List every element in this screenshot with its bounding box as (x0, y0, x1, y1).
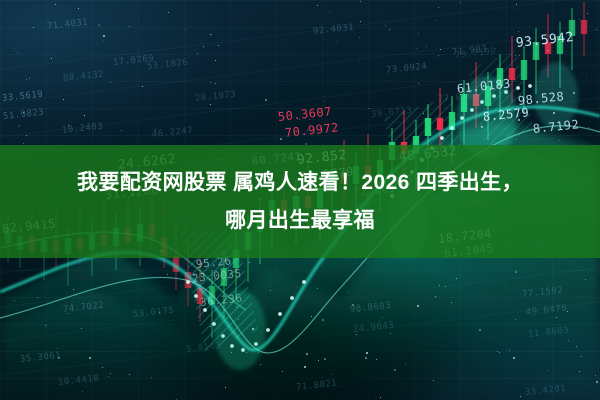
banner-image: 93.594261.018398.5288.25798.719250.36077… (0, 0, 600, 400)
floating-number: 73.0924 (385, 62, 427, 76)
floating-number: 88.4132 (62, 70, 104, 84)
floating-number: 71.4031 (46, 18, 88, 32)
floating-number: 10.4418 (57, 374, 99, 388)
floating-number: 71.8021 (295, 379, 337, 393)
floating-number: 70.9972 (284, 120, 339, 140)
title-line-1: 我要配资网股票 属鸡人速看！2026 四季出生， (77, 164, 523, 202)
floating-number: 98.8603 (349, 301, 391, 315)
title-banner: 我要配资网股票 属鸡人速看！2026 四季出生， 哪月出生最享福 (0, 145, 600, 258)
floating-number: 93.5942 (515, 30, 575, 51)
floating-number: 10.2483 (61, 122, 103, 136)
floating-number: 8.2579 (482, 105, 530, 124)
floating-number: 74.7022 (62, 301, 104, 315)
title-line-2: 哪月出生最享福 (225, 202, 375, 240)
floating-number: 77.1502 (521, 286, 563, 300)
floating-number: 20.1073 (194, 90, 236, 104)
floating-number: 46.2247 (151, 126, 193, 140)
floating-number: 8.7192 (532, 117, 580, 136)
floating-number: 39.6713 (370, 106, 412, 120)
floating-number: 53.0175 (132, 306, 174, 320)
floating-number: 35.3061 (19, 351, 61, 365)
floating-number: 24.9043 (352, 321, 394, 335)
floating-number: 11.8603 (527, 326, 569, 340)
floating-number: 51.9823 (2, 108, 44, 122)
floating-number: 5.0142 (185, 341, 221, 355)
floating-number: 77.0163 (437, 91, 479, 105)
floating-number: 36.236 (199, 292, 243, 309)
floating-number: 33.5619 (1, 90, 43, 104)
floating-number: 49.6470 (525, 304, 567, 318)
floating-number: 33.4201 (524, 384, 566, 398)
floating-number: 92.4031 (312, 23, 354, 37)
